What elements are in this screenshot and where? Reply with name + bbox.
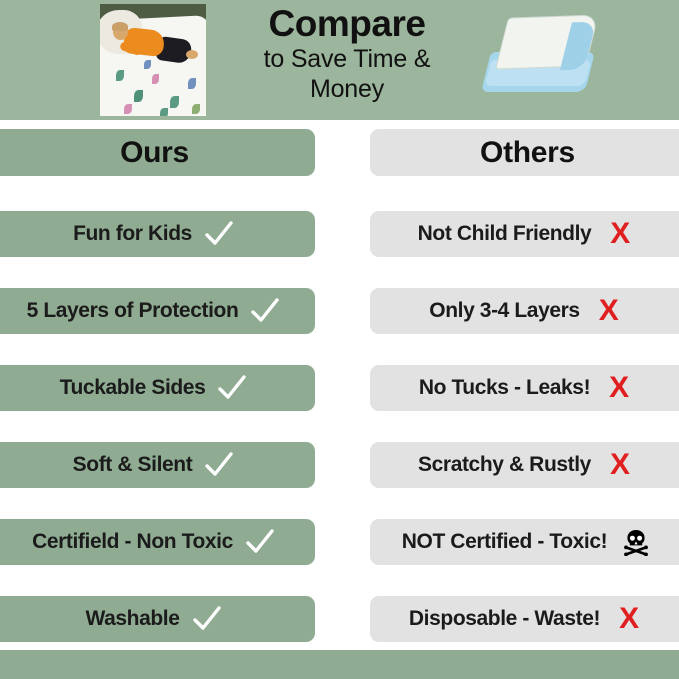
table-row: Certifield - Non Toxic NOT Certified - T… [0, 511, 679, 588]
headline-block: Compare to Save Time & Money [222, 0, 472, 120]
check-icon [190, 602, 224, 636]
column-header-others-label: Others [480, 136, 575, 170]
ours-feature-label: Soft & Silent [73, 453, 193, 477]
others-feature-label: Only 3-4 Layers [429, 299, 579, 323]
photo-child-foot [186, 50, 198, 59]
table-header-row: Ours Others [0, 120, 679, 203]
table-row: Fun for Kids Not Child Friendly X [0, 203, 679, 280]
cross-icon: X [612, 602, 646, 636]
ours-feature-label: Washable [85, 607, 179, 631]
cross-icon: X [603, 448, 637, 482]
headline-sub-line-2: Money [222, 74, 472, 104]
others-cell: Not Child Friendly X [370, 211, 679, 257]
photo-pattern-leaf [116, 70, 124, 81]
others-cell: Scratchy & Rustly X [370, 442, 679, 488]
ours-feature-label: 5 Layers of Protection [27, 299, 239, 323]
our-product-photo [100, 4, 206, 116]
cross-icon: X [592, 294, 626, 328]
photo-pattern-leaf [144, 60, 151, 69]
ours-cell: Fun for Kids [0, 211, 315, 257]
comparison-table: Ours Others Fun for Kids Not Child Frien… [0, 120, 679, 665]
ours-feature-label: Tuckable Sides [60, 376, 206, 400]
photo-pattern-leaf [160, 108, 168, 116]
others-cell: NOT Certified - Toxic! [370, 519, 679, 565]
photo-child-hair [112, 22, 128, 31]
ours-cell: Certifield - Non Toxic [0, 519, 315, 565]
headline-sub-line-1: to Save Time & [222, 44, 472, 74]
column-header-others: Others [370, 129, 679, 176]
table-row: 5 Layers of Protection Only 3-4 Layers X [0, 280, 679, 357]
cross-icon: X [602, 371, 636, 405]
ours-feature-label: Certifield - Non Toxic [32, 530, 233, 554]
header-banner: Compare to Save Time & Money [0, 0, 679, 120]
table-row: Soft & Silent Scratchy & Rustly X [0, 434, 679, 511]
others-cell: Disposable - Waste! X [370, 596, 679, 642]
check-icon [215, 371, 249, 405]
others-feature-label: Disposable - Waste! [409, 607, 600, 631]
others-feature-label: Scratchy & Rustly [418, 453, 591, 477]
photo-pattern-leaf [152, 74, 159, 84]
photo-pattern-leaf [134, 90, 143, 102]
column-header-ours-label: Ours [120, 136, 189, 170]
ours-cell: Washable [0, 596, 315, 642]
others-cell: No Tucks - Leaks! X [370, 365, 679, 411]
photo-pattern-leaf [192, 104, 200, 114]
footer-strip [0, 650, 679, 679]
competitor-product-photo [480, 8, 604, 112]
photo-pattern-leaf [170, 96, 179, 108]
table-row: Tuckable Sides No Tucks - Leaks! X [0, 357, 679, 434]
cross-icon: X [603, 217, 637, 251]
others-feature-label: Not Child Friendly [418, 222, 592, 246]
photo-pattern-leaf [124, 104, 132, 114]
ours-cell: Tuckable Sides [0, 365, 315, 411]
ours-feature-label: Fun for Kids [73, 222, 192, 246]
check-icon [202, 448, 236, 482]
headline-main: Compare [222, 4, 472, 44]
column-header-ours: Ours [0, 129, 315, 176]
ours-cell: Soft & Silent [0, 442, 315, 488]
skull-and-crossbones-icon [619, 525, 653, 559]
others-cell: Only 3-4 Layers X [370, 288, 679, 334]
others-feature-label: No Tucks - Leaks! [419, 376, 590, 400]
check-icon [243, 525, 277, 559]
check-icon [248, 294, 282, 328]
photo-pattern-leaf [188, 78, 196, 89]
check-icon [202, 217, 236, 251]
ours-cell: 5 Layers of Protection [0, 288, 315, 334]
others-feature-label: NOT Certified - Toxic! [402, 530, 608, 554]
